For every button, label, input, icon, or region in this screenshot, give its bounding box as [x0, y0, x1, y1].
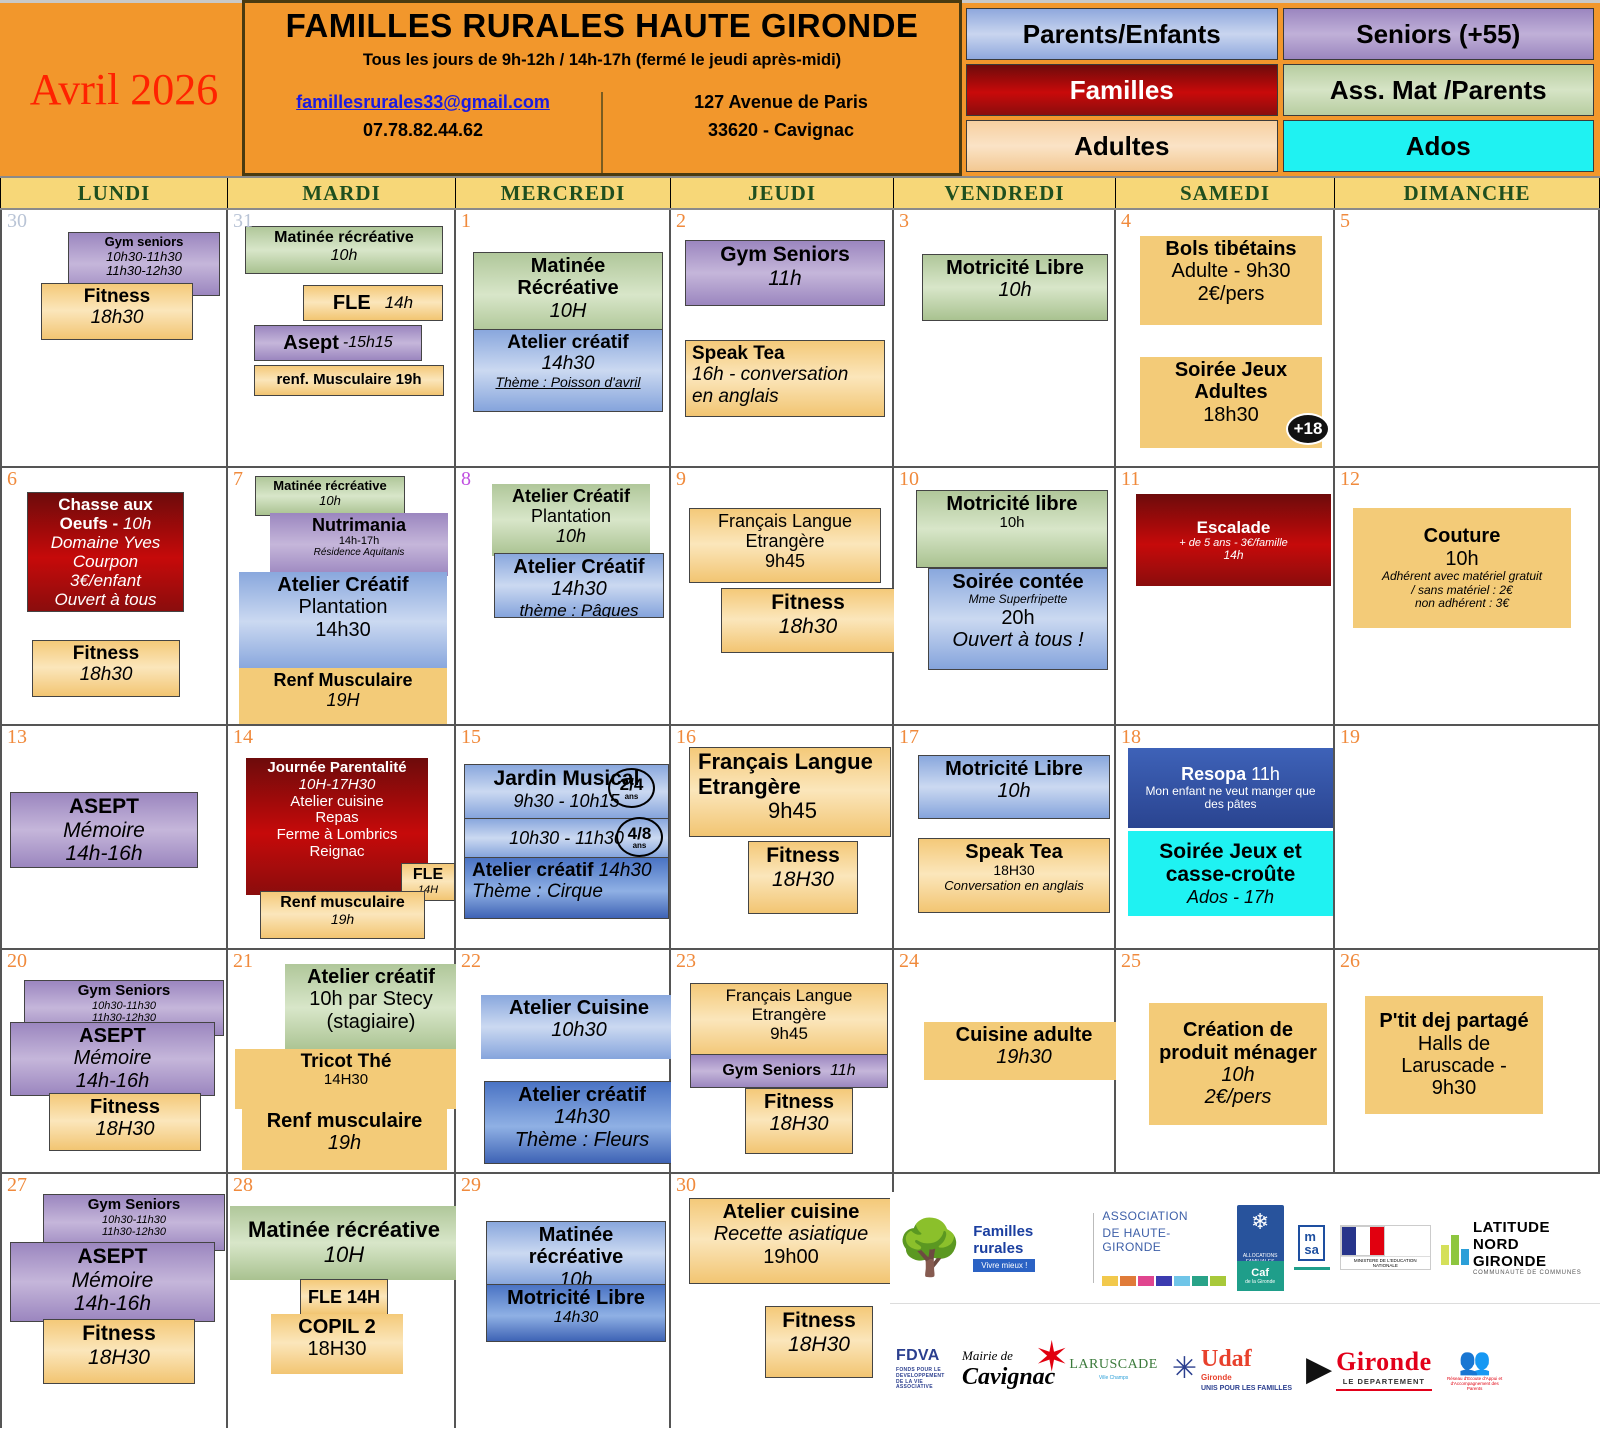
logo-mairie-label: Mairie de: [962, 1348, 1013, 1364]
tree-icon: 🌳: [896, 1221, 963, 1275]
weekday-mercredi: MERCREDI: [456, 178, 671, 208]
day-number: 31: [233, 211, 253, 231]
day-cell-8[interactable]: 8 Atelier Créatif Plantation 10h Atelier…: [456, 468, 671, 724]
logo-fdva-label: FDVA: [896, 1347, 948, 1365]
logo-udaf-sub: Gironde: [1201, 1373, 1232, 1382]
phone-number: 07.78.82.44.62: [363, 120, 483, 141]
logo-reaap: 👥 Réseau d'Ecoute d'Appui et d'Accompagn…: [1446, 1348, 1504, 1391]
day-cell-27[interactable]: 27 Gym Seniors 10h30-11h30 11h30-12h30 A…: [0, 1174, 228, 1428]
event-renf-musculaire[interactable]: Renf Musculaire 19H: [239, 668, 447, 724]
day-cell-30-apr[interactable]: 30 Atelier cuisine Recette asiatique 19h…: [671, 1174, 894, 1428]
day-number: 27: [7, 1175, 27, 1195]
day-cell-17[interactable]: 17 Motricité Libre 10h Speak Tea 18H30 C…: [894, 726, 1116, 948]
logo-mairie-cavignac: Mairie de Cavignac ✶: [962, 1348, 1055, 1391]
logo-laruscade: LARUSCADE Ville Champs: [1069, 1357, 1158, 1381]
weekday-header-row: LUNDI MARDI MERCREDI JEUDI VENDREDI SAME…: [0, 176, 1600, 210]
logo-latitude-label: LATITUDE: [1473, 1219, 1594, 1236]
logo-udaf-tagline: UNIS POUR LES FAMILLES: [1201, 1385, 1292, 1392]
day-cell-26[interactable]: 26 P'tit dej partagé Halls de Laruscade …: [1335, 950, 1600, 1172]
day-number: 2: [676, 211, 686, 231]
event-gym-seniors[interactable]: Gym Seniors 11h: [690, 1054, 888, 1088]
logo-udaf: ✳ Udaf Gironde UNIS POUR LES FAMILLES: [1172, 1346, 1292, 1392]
logo-gironde: ▶ Gironde LE DEPARTEMENT: [1306, 1347, 1432, 1391]
logo-band-bottom: FDVA FONDS POUR LE DEVELOPPEMENT DE LA V…: [890, 1304, 1600, 1434]
logo-association-label: ASSOCIATION: [1102, 1209, 1226, 1223]
day-number: 9: [676, 469, 686, 489]
legend-familles: Familles: [966, 64, 1278, 116]
week-row-2: 6 Chasse aux Oeufs - 10h Domaine Yves Co…: [0, 468, 1600, 726]
event-asept-memoire[interactable]: ASEPT Mémoire 14h-16h: [10, 1022, 215, 1096]
event-atelier-cuisine[interactable]: Atelier Cuisine 10h30: [481, 995, 677, 1059]
event-creation-produit-menager[interactable]: Création de produit ménager 10h 2€/pers: [1149, 1003, 1327, 1125]
logo-latitude-nord-gironde: LATITUDE NORD GIRONDE COMMUNAUTE DE COMM…: [1441, 1219, 1594, 1276]
day-number: 4: [1121, 211, 1131, 231]
email-link[interactable]: famillesrurales33@gmail.com: [296, 92, 550, 113]
day-cell-9[interactable]: 9 Français Langue Etrangère 9h45 Fitness…: [671, 468, 894, 724]
day-cell-14[interactable]: 14 Journée Parentalité 10H-17H30 Atelier…: [228, 726, 456, 948]
day-number: 15: [461, 727, 481, 747]
event-francais-langue-etrangere[interactable]: Français Langue Etrangère 9h45: [689, 508, 881, 583]
event-matinee-recreative[interactable]: Matinée récréative 10h: [245, 226, 443, 274]
event-renf-musculaire[interactable]: Renf musculaire 19h: [260, 891, 425, 939]
day-number: 11: [1121, 469, 1140, 489]
weekday-lundi: LUNDI: [0, 178, 228, 208]
event-soiree-jeux-casse-croute[interactable]: Soirée Jeux et casse-croûte Ados - 17h: [1128, 831, 1333, 916]
day-number: 30: [676, 1175, 696, 1195]
day-cell-4[interactable]: 4 Bols tibétains Adulte - 9h30 2€/pers S…: [1116, 210, 1335, 466]
day-cell-29[interactable]: 29 Matinée récréative 10h Motricité Libr…: [456, 1174, 671, 1428]
event-fitness[interactable]: Fitness 18h30: [721, 588, 895, 653]
day-cell-11[interactable]: 11 Escalade + de 5 ans - 3€/famille 14h: [1116, 468, 1335, 724]
org-title: FAMILLES RURALES HAUTE GIRONDE: [286, 7, 919, 45]
day-cell-3[interactable]: 3 Motricité Libre 10h: [894, 210, 1116, 466]
day-cell-13[interactable]: 13 ASEPT Mémoire 14h-16h: [0, 726, 228, 948]
day-cell-30-mar[interactable]: 30 Gym seniors 10h30-11h30 11h30-12h30 F…: [0, 210, 228, 466]
logo-udaf-label: Udaf: [1201, 1346, 1252, 1373]
logo-ministere-label: MINISTERE DE L'EDUCATION NATIONALE: [1341, 1256, 1430, 1270]
logo-caf-sub: de la Gironde: [1245, 1279, 1275, 1285]
age-circle-4-8: 4/8 ans: [616, 817, 663, 857]
day-cell-12[interactable]: 12 Couture 10h Adhérent avec matériel gr…: [1335, 468, 1600, 724]
event-speak-tea[interactable]: Speak Tea 18H30 Conversation en anglais: [918, 838, 1110, 913]
logo-latitude-label-2: NORD GIRONDE: [1473, 1236, 1594, 1270]
page-title: Avril 2026: [24, 64, 219, 115]
day-number: 3: [899, 211, 909, 231]
event-fitness[interactable]: Fitness 18H30: [765, 1306, 873, 1378]
day-number: 16: [676, 727, 696, 747]
logo-caf: ❄ ALLOCATIONSFAMILIALES Caf de la Girond…: [1237, 1205, 1284, 1291]
address-line-1: 127 Avenue de Paris: [694, 92, 868, 113]
event-fitness[interactable]: Fitness 18H30: [49, 1093, 201, 1151]
day-number: 13: [7, 727, 27, 747]
day-cell-20[interactable]: 20 Gym Seniors 10h30-11h30 11h30-12h30 A…: [0, 950, 228, 1172]
event-fitness[interactable]: Fitness 18h30: [32, 640, 180, 697]
day-number: 12: [1340, 469, 1360, 489]
event-atelier-creatif[interactable]: Atelier créatif 14h30 Thème : Fleurs: [484, 1081, 680, 1164]
event-bols-tibetains[interactable]: Bols tibétains Adulte - 9h30 2€/pers: [1140, 236, 1322, 325]
day-number: 26: [1340, 951, 1360, 971]
event-tricot-the[interactable]: Tricot Thé 14H30: [235, 1049, 457, 1109]
day-number: 28: [233, 1175, 253, 1195]
day-number: 7: [233, 469, 243, 489]
event-matinee-recreative[interactable]: Matinée récréative 10h: [486, 1221, 666, 1286]
event-atelier-creatif[interactable]: Atelier créatif 14h30 Thème : Cirque: [464, 857, 669, 919]
day-number: 29: [461, 1175, 481, 1195]
day-number: 30: [7, 211, 27, 231]
weekday-dimanche: DIMANCHE: [1335, 178, 1600, 208]
logo-reaap-label: Réseau d'Ecoute d'Appui et d'Accompagnem…: [1446, 1376, 1504, 1391]
logo-band-top: 🌳 Familles rurales Vivre mieux ! ASSOCIA…: [890, 1192, 1600, 1304]
event-soiree-contee[interactable]: Soirée contée Mme Superfripette 20h Ouve…: [928, 568, 1108, 670]
event-atelier-creatif[interactable]: Atelier Créatif Plantation 14h30: [239, 572, 447, 671]
event-atelier-creatif-plantation[interactable]: Atelier Créatif Plantation 10h: [492, 484, 650, 556]
legend-ass-mat-parents: Ass. Mat /Parents: [1283, 64, 1595, 116]
logo-tagline: Vivre mieux !: [973, 1259, 1035, 1272]
logo-association-sub: DE HAUTE-GIRONDE: [1102, 1226, 1226, 1254]
day-cell-15[interactable]: 15 Jardin Musical 9h30 - 10h15 2/4 ans 1…: [456, 726, 671, 948]
udaf-person-icon: ✳: [1172, 1354, 1197, 1384]
month-title-cell: Avril 2026: [0, 0, 242, 176]
logo-caf-label: Caf: [1251, 1267, 1269, 1279]
event-fle[interactable]: FLE 14h: [303, 285, 443, 321]
day-cell-10[interactable]: 10 Motricité libre 10h Soirée contée Mme…: [894, 468, 1116, 724]
day-number: 19: [1340, 727, 1360, 747]
color-bars: [1102, 1276, 1226, 1286]
logo-gironde-sub: LE DEPARTEMENT: [1343, 1377, 1425, 1386]
organization-block: FAMILLES RURALES HAUTE GIRONDE Tous les …: [242, 0, 962, 176]
day-cell-25[interactable]: 25 Création de produit ménager 10h 2€/pe…: [1116, 950, 1335, 1172]
event-speak-tea[interactable]: Speak Tea 16h - conversation en anglais: [685, 340, 885, 417]
caf-flower-icon: ❄: [1237, 1211, 1284, 1233]
page-header: Avril 2026 FAMILLES RURALES HAUTE GIROND…: [0, 0, 1600, 176]
day-cell-28[interactable]: 28 Matinée récréative 10H FLE 14H COPIL …: [228, 1174, 456, 1428]
event-gym-seniors[interactable]: Gym Seniors 11h: [685, 240, 885, 306]
legend-seniors: Seniors (+55): [1283, 8, 1595, 60]
day-cell-21[interactable]: 21 Atelier créatif 10h par Stecy (stagia…: [228, 950, 456, 1172]
day-cell-16[interactable]: 16 Français Langue Etrangère 9h45 Fitnes…: [671, 726, 894, 948]
day-number: 17: [899, 727, 919, 747]
event-motricite-libre[interactable]: Motricité Libre 10h: [922, 254, 1108, 321]
day-number: 22: [461, 951, 481, 971]
weekday-vendredi: VENDREDI: [894, 178, 1116, 208]
event-atelier-creatif[interactable]: Atelier créatif 14h30 Thème : Poisson d'…: [473, 329, 663, 412]
day-number: 1: [461, 211, 471, 231]
logo-laruscade-label: LARUSCADE: [1069, 1357, 1158, 1373]
divider: [1093, 1213, 1094, 1283]
event-fitness[interactable]: Fitness 18H30: [43, 1319, 195, 1384]
address-line-2: 33620 - Cavignac: [708, 120, 854, 141]
star-icon: ✶: [1034, 1336, 1069, 1378]
logo-msa: msa: [1294, 1225, 1330, 1270]
legend-adultes: Adultes: [966, 120, 1278, 172]
event-renf-musculaire[interactable]: Renf musculaire 19h: [242, 1108, 447, 1170]
day-cell-2[interactable]: 2 Gym Seniors 11h Speak Tea 16h - conver…: [671, 210, 894, 466]
logo-ministere: MINISTERE DE L'EDUCATION NATIONALE: [1340, 1225, 1431, 1271]
event-ptit-dej-partage[interactable]: P'tit dej partagé Halls de Laruscade - 9…: [1365, 996, 1543, 1114]
event-escalade[interactable]: Escalade + de 5 ans - 3€/famille 14h: [1136, 494, 1331, 586]
event-fitness[interactable]: Fitness 18H30: [748, 841, 858, 914]
reaap-people-icon: 👥: [1458, 1348, 1490, 1374]
day-cell-1[interactable]: 1 Matinée Récréative 10H Atelier créatif…: [456, 210, 671, 466]
event-fle[interactable]: FLE 14H: [300, 1279, 388, 1315]
event-francais-langue-etrangere[interactable]: Français Langue Etrangère 9h45: [689, 747, 891, 837]
event-fitness[interactable]: Fitness 18h30: [41, 283, 193, 340]
day-cell-22[interactable]: 22 Atelier Cuisine 10h30 Atelier créatif…: [456, 950, 671, 1172]
day-cell-7[interactable]: 7 Matinée récréative 10h Nutrimania 14h-…: [228, 468, 456, 724]
logo-familles-rurales-label: Familles rurales: [973, 1223, 1085, 1257]
day-cell-19[interactable]: 19: [1335, 726, 1600, 948]
logo-latitude-sub: COMMUNAUTE DE COMMUNES: [1473, 1270, 1594, 1276]
day-number: 20: [7, 951, 27, 971]
week-row-3: 13 ASEPT Mémoire 14h-16h 14 Journée Pare…: [0, 726, 1600, 950]
event-couture[interactable]: Couture 10h Adhérent avec matériel gratu…: [1353, 508, 1571, 628]
event-matinee-recreative[interactable]: Matinée Récréative 10H: [473, 252, 663, 338]
logo-gironde-label: Gironde: [1336, 1347, 1431, 1377]
day-cell-23[interactable]: 23 Français Langue Etrangère 9h45 Gym Se…: [671, 950, 894, 1172]
event-matinee-recreative[interactable]: Matinée récréative 10h: [255, 476, 405, 516]
event-asept-memoire[interactable]: ASEPT Mémoire 14h-16h: [10, 1242, 215, 1322]
logo-familles-rurales: Familles rurales Vivre mieux ! ASSOCIATI…: [973, 1209, 1226, 1286]
day-number: 10: [899, 469, 919, 489]
age-circle-2-4: 2/4 ans: [608, 768, 655, 808]
day-number: 21: [233, 951, 253, 971]
partner-logos: 🌳 Familles rurales Vivre mieux ! ASSOCIA…: [890, 1192, 1600, 1446]
day-cell-6[interactable]: 6 Chasse aux Oeufs - 10h Domaine Yves Co…: [0, 468, 228, 724]
event-resopa[interactable]: Resopa 11h Mon enfant ne veut manger que…: [1128, 748, 1333, 828]
event-asept[interactable]: Asept -15h15: [254, 325, 422, 361]
weekday-samedi: SAMEDI: [1116, 178, 1335, 208]
logo-fdva: FDVA FONDS POUR LE DEVELOPPEMENT DE LA V…: [896, 1347, 948, 1391]
day-number: 18: [1121, 727, 1141, 747]
french-flag-icon: [1341, 1226, 1385, 1256]
legend-ados: Ados: [1283, 120, 1595, 172]
day-cell-18[interactable]: 18 Resopa 11h Mon enfant ne veut manger …: [1116, 726, 1335, 948]
day-number: 25: [1121, 951, 1141, 971]
event-francais-langue-etrangere[interactable]: Français Langue Etrangère 9h45: [690, 983, 888, 1059]
org-opening-hours: Tous les jours de 9h-12h / 14h-17h (ferm…: [363, 51, 841, 70]
day-cell-31-mar[interactable]: 31 Matinée récréative 10h FLE 14h Asept …: [228, 210, 456, 466]
day-number: 23: [676, 951, 696, 971]
day-number: 8: [461, 469, 471, 489]
event-renf-musculaire[interactable]: renf. Musculaire 19h: [254, 365, 444, 396]
age-badge-plus-18: +18: [1286, 413, 1330, 445]
week-row-1: 30 Gym seniors 10h30-11h30 11h30-12h30 F…: [0, 210, 1600, 468]
event-motricite-libre[interactable]: Motricité libre 10h: [916, 490, 1108, 568]
event-asept-memoire[interactable]: ASEPT Mémoire 14h-16h: [10, 792, 198, 868]
day-cell-5[interactable]: 5: [1335, 210, 1600, 466]
event-atelier-creatif[interactable]: Atelier créatif 10h par Stecy (stagiaire…: [285, 964, 457, 1052]
event-cuisine-adulte[interactable]: Cuisine adulte 19h30: [924, 1022, 1124, 1080]
category-legend: Parents/Enfants Seniors (+55) Familles A…: [962, 0, 1600, 176]
logo-fdva-sub: FONDS POUR LE DEVELOPPEMENT DE LA VIE AS…: [896, 1368, 948, 1391]
event-motricite-libre[interactable]: Motricité Libre 14h30: [486, 1284, 666, 1342]
event-atelier-creatif-paques[interactable]: Atelier Créatif 14h30 thème : Pâques: [494, 553, 664, 618]
event-copil-2[interactable]: COPIL 2 18H30: [271, 1314, 403, 1374]
day-number: 14: [233, 727, 253, 747]
event-matinee-recreative[interactable]: Matinée récréative 10H: [230, 1206, 458, 1280]
week-row-4: 20 Gym Seniors 10h30-11h30 11h30-12h30 A…: [0, 950, 1600, 1174]
event-atelier-cuisine[interactable]: Atelier cuisine Recette asiatique 19h00: [689, 1198, 893, 1284]
weekday-jeudi: JEUDI: [671, 178, 894, 208]
event-nutrimania[interactable]: Nutrimania 14h-17h Résidence Aquitanis: [270, 513, 448, 576]
day-number: 6: [7, 469, 17, 489]
day-number: 24: [899, 951, 919, 971]
day-number: 5: [1340, 211, 1350, 231]
event-fitness[interactable]: Fitness 18H30: [745, 1088, 853, 1154]
legend-parents-enfants: Parents/Enfants: [966, 8, 1278, 60]
day-cell-24[interactable]: 24 Cuisine adulte 19h30: [894, 950, 1116, 1172]
weekday-mardi: MARDI: [228, 178, 456, 208]
event-chasse-aux-oeufs[interactable]: Chasse aux Oeufs - 10h Domaine Yves Cour…: [27, 492, 184, 612]
gironde-mark-icon: ▶: [1306, 1352, 1332, 1386]
event-motricite-libre[interactable]: Motricité Libre 10h: [918, 755, 1110, 819]
